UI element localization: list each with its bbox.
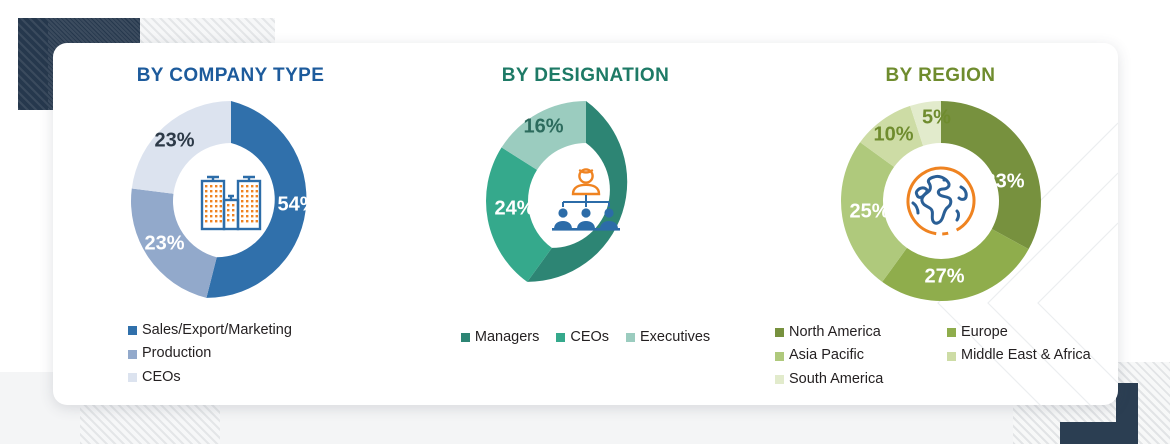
legend-swatch-icon [128, 350, 137, 359]
slice-label-27: 27% [924, 266, 964, 289]
legend-item-production[interactable]: Production [128, 342, 292, 365]
legend-swatch-icon [128, 373, 137, 382]
panel-title-company-type: BY COMPANY TYPE [137, 65, 325, 87]
legend-item-sales-export-marketing[interactable]: Sales/Export/Marketing [128, 319, 292, 342]
legend-item-ceos[interactable]: CEOs [556, 326, 609, 349]
donut-chart-designation: 60% 24% 16% [482, 97, 690, 305]
panel-by-region: BY REGION [763, 65, 1118, 405]
org-chart-people-icon [534, 149, 638, 253]
office-buildings-icon [179, 149, 283, 253]
legend-label: Sales/Export/Marketing [142, 319, 292, 342]
legend-item-south-america[interactable]: South America [775, 368, 947, 391]
globe-icon [889, 149, 993, 253]
legend-label: Asia Pacific [789, 344, 864, 367]
legend-label: CEOs [142, 366, 181, 389]
slice-label-24: 24% [494, 198, 534, 221]
legend-label: Production [142, 342, 211, 365]
legend-swatch-icon [461, 333, 470, 342]
donut-chart-region: 33% 27% 25% 10% 5% [837, 97, 1045, 305]
charts-card: BY COMPANY TYPE [53, 43, 1118, 405]
legend-item-asia-pacific[interactable]: Asia Pacific [775, 344, 947, 367]
slice-label-54: 54% [277, 194, 317, 217]
panel-title-region: BY REGION [886, 65, 996, 87]
legend-item-middle-east-africa[interactable]: Middle East & Africa [947, 344, 1091, 367]
legend-swatch-icon [626, 333, 635, 342]
legend-swatch-icon [947, 352, 956, 361]
legend-item-managers[interactable]: Managers [461, 326, 539, 349]
legend-swatch-icon [947, 328, 956, 337]
legend-swatch-icon [775, 375, 784, 384]
legend-swatch-icon [128, 326, 137, 335]
legend-label: Middle East & Africa [961, 344, 1091, 367]
legend-item-north-america[interactable]: North America [775, 321, 947, 344]
legend-swatch-icon [556, 333, 565, 342]
slice-label-23-ceos: 23% [154, 130, 194, 153]
slice-label-25: 25% [849, 201, 889, 224]
legend-region: North America Asia Pacific South America [775, 321, 1091, 391]
legend-swatch-icon [775, 328, 784, 337]
legend-swatch-icon [775, 352, 784, 361]
slice-label-16: 16% [523, 116, 563, 139]
legend-label: North America [789, 321, 881, 344]
slice-label-60: 60% [631, 214, 671, 237]
striped-band-bottom-left [80, 404, 220, 444]
slice-label-23-production: 23% [144, 233, 184, 256]
legend-company-type: Sales/Export/Marketing Production CEOs [128, 319, 292, 389]
legend-item-europe[interactable]: Europe [947, 321, 1091, 344]
legend-label: Europe [961, 321, 1008, 344]
legend-designation: Managers CEOs Executives [461, 326, 710, 349]
panel-by-company-type: BY COMPANY TYPE [53, 65, 408, 405]
legend-label: Managers [475, 326, 539, 349]
legend-item-executives[interactable]: Executives [626, 326, 710, 349]
panel-title-designation: BY DESIGNATION [502, 65, 669, 87]
legend-label: South America [789, 368, 883, 391]
legend-label: CEOs [570, 326, 609, 349]
donut-chart-company-type: 54% 23% 23% [127, 97, 335, 305]
panel-by-designation: BY DESIGNATION [408, 65, 763, 405]
legend-label: Executives [640, 326, 710, 349]
slice-label-33: 33% [984, 171, 1024, 194]
legend-item-ceos[interactable]: CEOs [128, 366, 292, 389]
slice-label-10: 10% [873, 124, 913, 147]
slice-label-5: 5% [922, 107, 951, 130]
